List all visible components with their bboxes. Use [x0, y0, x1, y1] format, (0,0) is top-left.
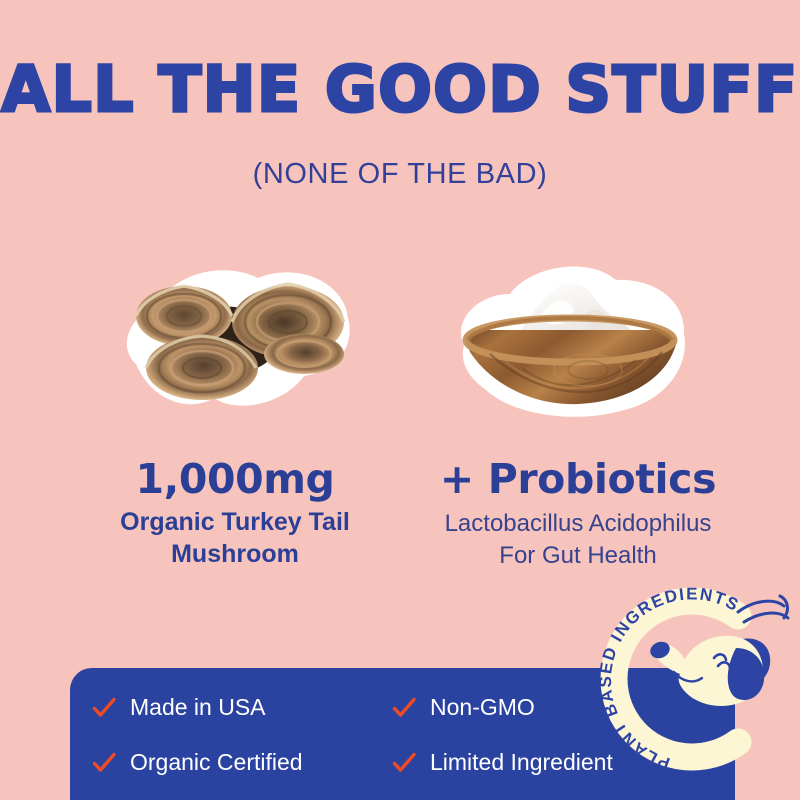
feature-label: Organic Certified — [130, 749, 303, 776]
dog-head-icon — [648, 636, 770, 706]
feature-label: Limited Ingredient — [430, 749, 613, 776]
claim-probiotics-subtitle-line2: For Gut Health — [398, 540, 758, 571]
feature-label: Non-GMO — [430, 694, 535, 721]
claim-probiotics-subtitle-line1: Lactobacillus Acidophilus — [398, 508, 758, 539]
check-icon — [392, 751, 416, 775]
feature-label: Made in USA — [130, 694, 266, 721]
claim-mushroom-subtitle: Organic Turkey Tail Mushroom — [45, 507, 425, 570]
claim-mushroom: 1,000mg Organic Turkey Tail Mushroom — [45, 458, 425, 570]
turkey-tail-mushrooms-photo — [98, 252, 360, 420]
page-subtitle: (NONE OF THE BAD) — [0, 158, 800, 191]
claim-mushroom-subtitle-line2: Mushroom — [45, 539, 425, 570]
feature-item-organic-certified: Organic Certified — [92, 749, 392, 776]
claim-probiotics: + Probiotics Lactobacillus Acidophilus F… — [398, 458, 758, 571]
plant-based-badge: PLANT BASED INGREDIENTS — [588, 578, 800, 778]
probiotic-powder-bowl-photo — [438, 250, 700, 428]
claim-mushroom-subtitle-line1: Organic Turkey Tail — [45, 507, 425, 538]
claim-mushroom-title: 1,000mg — [45, 458, 425, 501]
check-icon — [92, 751, 116, 775]
claim-probiotics-subtitle: Lactobacillus Acidophilus For Gut Health — [398, 508, 758, 570]
product-infographic: ALL THE GOOD STUFF (NONE OF THE BAD) — [0, 0, 800, 800]
feature-item-made-in-usa: Made in USA — [92, 694, 392, 721]
check-icon — [392, 696, 416, 720]
page-title: ALL THE GOOD STUFF — [0, 58, 800, 121]
check-icon — [92, 696, 116, 720]
claim-probiotics-title: + Probiotics — [398, 458, 758, 501]
